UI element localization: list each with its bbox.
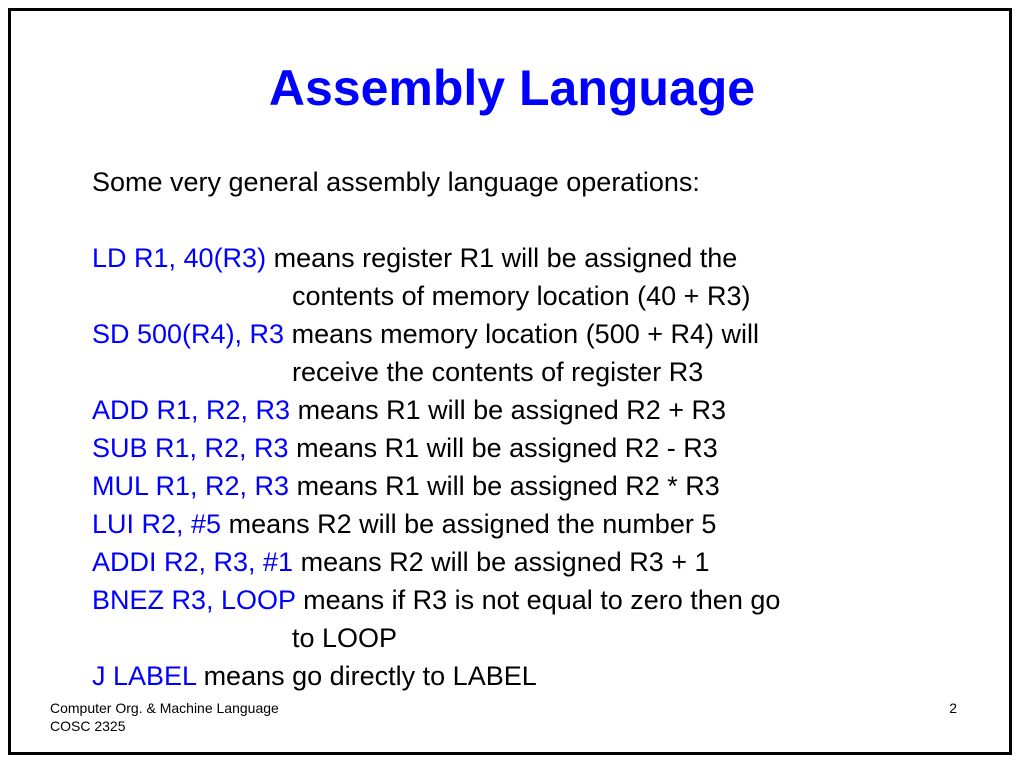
instruction-mnemonic: LD R1, 40(R3) xyxy=(92,243,266,273)
instruction-description: means R1 will be assigned R2 - R3 xyxy=(289,433,718,463)
instruction-line: contents of memory location (40 + R3) xyxy=(92,277,952,315)
instruction-line: J LABEL means go directly to LABEL xyxy=(92,657,952,695)
page-title: Assembly Language xyxy=(0,61,1024,116)
instruction-mnemonic: ADD R1, R2, R3 xyxy=(92,395,290,425)
instruction-description: means memory location (500 + R4) will xyxy=(284,319,759,349)
instruction-mnemonic: J LABEL xyxy=(92,661,196,691)
instruction-mnemonic: SD 500(R4), R3 xyxy=(92,319,284,349)
instruction-line: MUL R1, R2, R3 means R1 will be assigned… xyxy=(92,467,952,505)
instruction-description: means register R1 will be assigned the xyxy=(266,243,737,273)
instruction-line: ADDI R2, R3, #1 means R2 will be assigne… xyxy=(92,543,952,581)
instruction-list: LD R1, 40(R3) means register R1 will be … xyxy=(92,239,952,695)
instruction-line: BNEZ R3, LOOP means if R3 is not equal t… xyxy=(92,581,952,619)
instruction-line: LD R1, 40(R3) means register R1 will be … xyxy=(92,239,952,277)
instruction-description: means R2 will be assigned the number 5 xyxy=(221,509,716,539)
instruction-description: means R1 will be assigned R2 + R3 xyxy=(290,395,726,425)
instruction-description: receive the contents of register R3 xyxy=(292,357,703,387)
page-number: 2 xyxy=(0,699,1024,717)
slide: Assembly Language Some very general asse… xyxy=(0,0,1024,763)
instruction-mnemonic: BNEZ R3, LOOP xyxy=(92,585,296,615)
instruction-description: contents of memory location (40 + R3) xyxy=(292,281,750,311)
instruction-line: receive the contents of register R3 xyxy=(92,353,952,391)
instruction-line: SUB R1, R2, R3 means R1 will be assigned… xyxy=(92,429,952,467)
instruction-line: to LOOP xyxy=(92,619,952,657)
instruction-mnemonic: SUB R1, R2, R3 xyxy=(92,433,289,463)
instruction-line: ADD R1, R2, R3 means R1 will be assigned… xyxy=(92,391,952,429)
instruction-description: means R2 will be assigned R3 + 1 xyxy=(293,547,709,577)
instruction-line: SD 500(R4), R3 means memory location (50… xyxy=(92,315,952,353)
instruction-mnemonic: MUL R1, R2, R3 xyxy=(92,471,289,501)
body-intro-line: Some very general assembly language oper… xyxy=(92,163,952,201)
body-spacer xyxy=(92,201,952,239)
footer-course-code: COSC 2325 xyxy=(50,717,279,735)
instruction-mnemonic: ADDI R2, R3, #1 xyxy=(92,547,293,577)
slide-body: Some very general assembly language oper… xyxy=(92,163,952,695)
instruction-description: to LOOP xyxy=(292,623,397,653)
instruction-line: LUI R2, #5 means R2 will be assigned the… xyxy=(92,505,952,543)
instruction-description: means if R3 is not equal to zero then go xyxy=(296,585,781,615)
instruction-mnemonic: LUI R2, #5 xyxy=(92,509,221,539)
instruction-description: means R1 will be assigned R2 * R3 xyxy=(289,471,720,501)
instruction-description: means go directly to LABEL xyxy=(196,661,537,691)
